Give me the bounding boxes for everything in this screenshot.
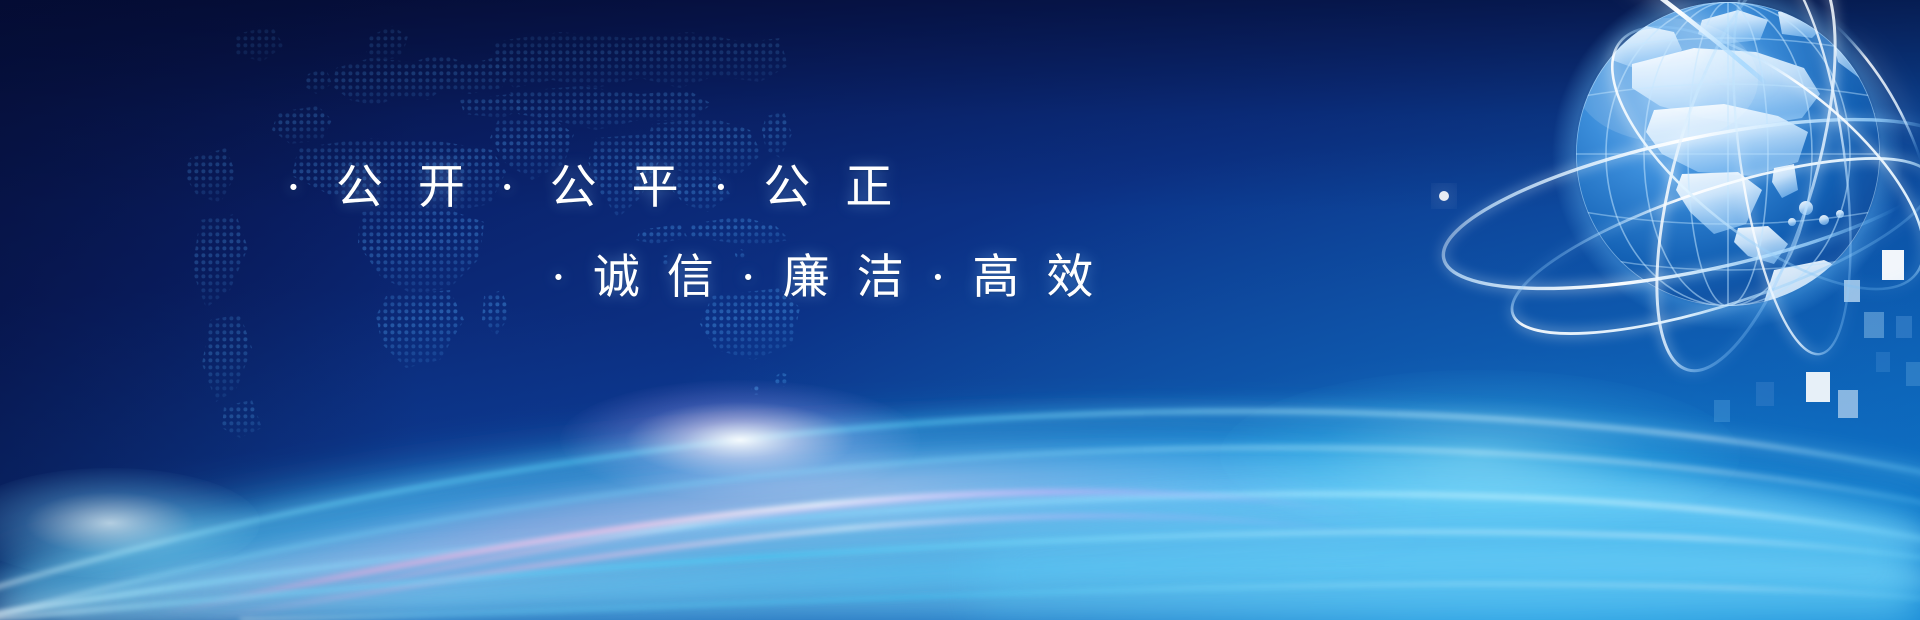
light-glow-right: [1220, 370, 1740, 540]
pixel-square: [1896, 316, 1912, 338]
slogan-block: · 公 开 · 公 平 · 公 正 · 诚 信 · 廉 洁 · 高 效: [0, 0, 1100, 340]
pixel-square: [1714, 400, 1730, 422]
pixel-square: [1756, 382, 1774, 406]
slogan-line-1: · 公 开 · 公 平 · 公 正: [286, 148, 902, 217]
pixel-square: [1806, 372, 1830, 402]
pixel-square: [1876, 352, 1890, 372]
pixel-squares-decoration: [1690, 250, 1920, 420]
pixel-square: [1906, 362, 1920, 386]
pixel-square: [1864, 312, 1884, 338]
pixel-square: [1844, 280, 1860, 302]
pixel-square: [1882, 250, 1904, 280]
pixel-square: [1838, 390, 1858, 418]
light-glow-left: [0, 468, 260, 578]
banner-root: · 公 开 · 公 平 · 公 正 · 诚 信 · 廉 洁 · 高 效: [0, 0, 1920, 620]
slogan-line-2: · 诚 信 · 廉 洁 · 高 效: [551, 238, 1099, 307]
